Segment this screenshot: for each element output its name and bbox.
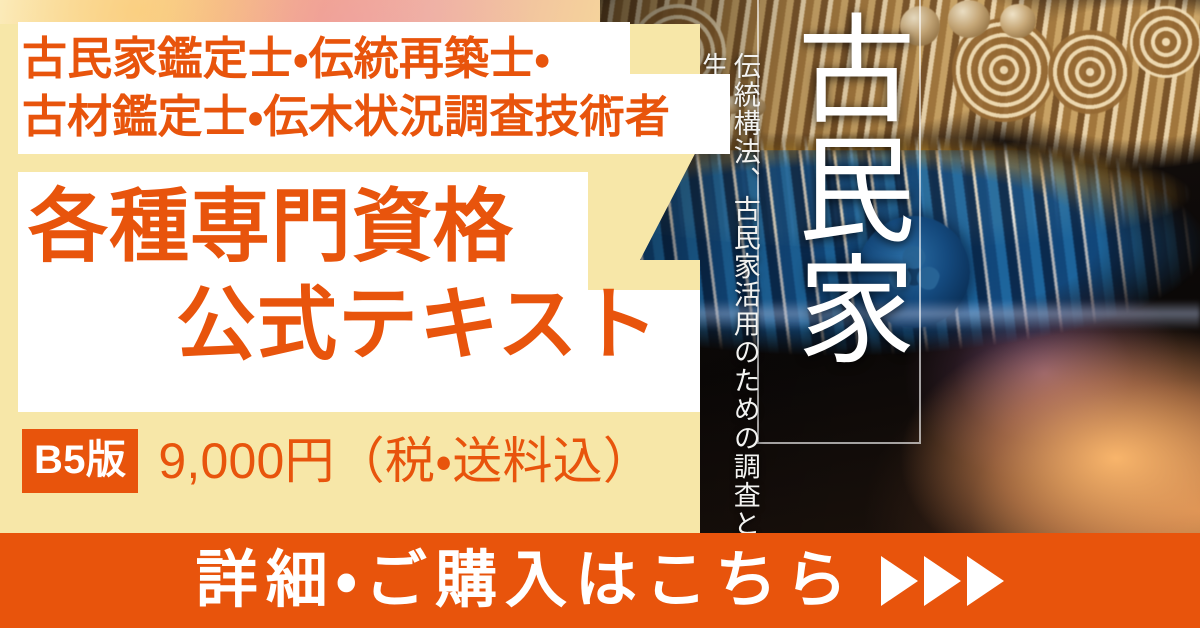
cta-arrow-group — [881, 556, 1004, 606]
certification-line-1: 古民家鑑定士・伝統再築士・ — [22, 30, 722, 88]
promo-banner: 古民家 伝統構法、古民家活用のための調査と再生の 古民家鑑定士・伝統再築士・ 古… — [0, 0, 1200, 628]
cta-button[interactable]: 詳細・ご購入はこちら — [0, 533, 1200, 628]
headline-line-2: 公式テキスト — [176, 284, 659, 366]
triangle-right-icon — [881, 556, 918, 606]
triangle-right-icon — [967, 556, 1004, 606]
cover-title: 古民家 — [756, 8, 916, 369]
certification-line-2: 古材鑑定士・伝木状況調査技術者 — [22, 88, 722, 146]
triangle-right-icon — [924, 556, 961, 606]
certifications-text: 古民家鑑定士・伝統再築士・ 古材鑑定士・伝木状況調査技術者 — [22, 30, 722, 145]
price-row: B5版 9,000円（税・送料込） — [22, 430, 653, 492]
size-badge: B5版 — [22, 429, 138, 493]
cta-label: 詳細・ご購入はこちら — [196, 550, 856, 612]
headline-line-1: 各種専門資格 — [28, 186, 514, 268]
price-text: 9,000円（税・送料込） — [158, 436, 653, 486]
